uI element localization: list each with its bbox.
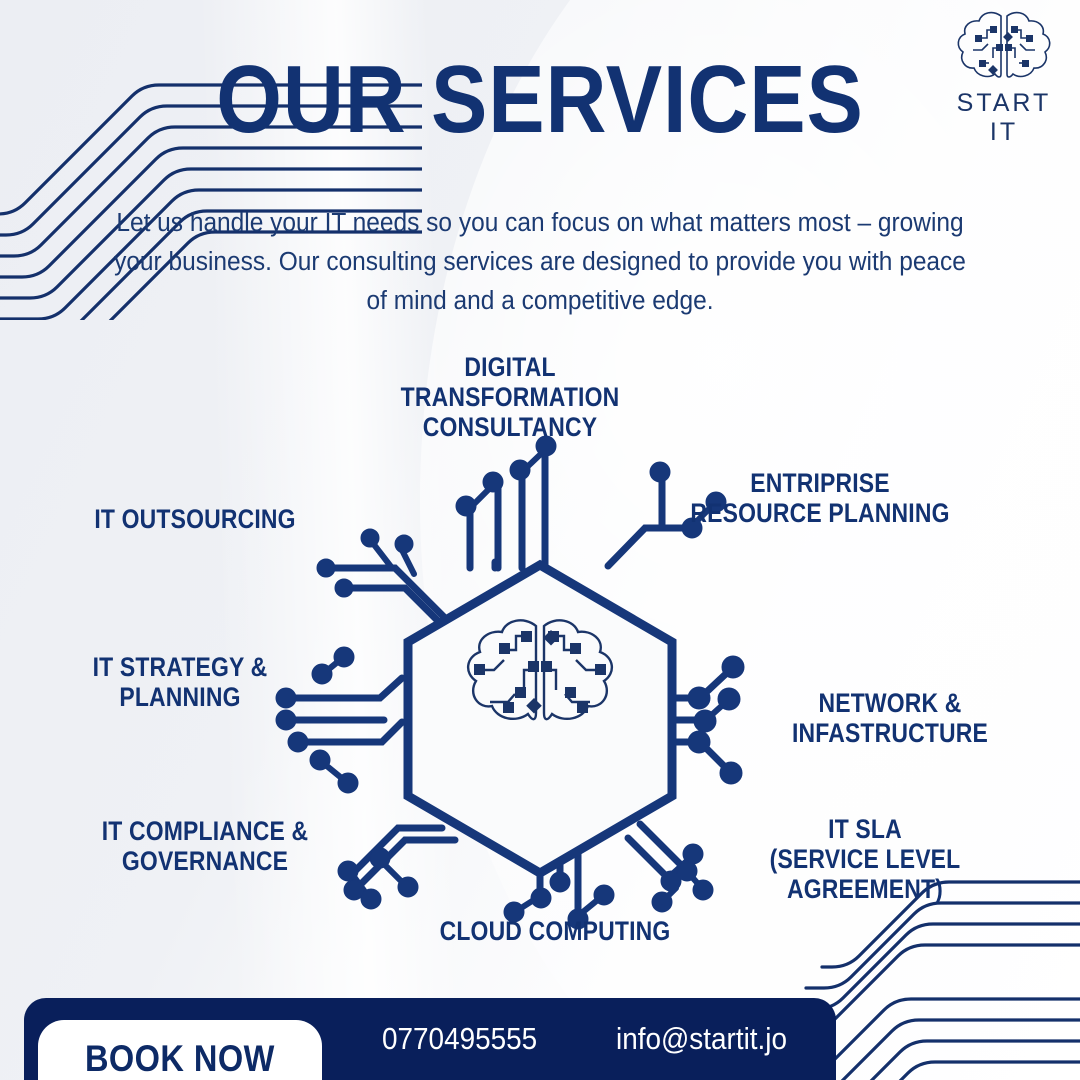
poster-canvas: START IT OUR SERVICES Let us handle your…: [0, 0, 1080, 1080]
footer-bar: BOOK NOW 0770495555 info@startit.jo: [24, 998, 836, 1080]
page-subtitle: Let us handle your IT needs so you can f…: [113, 204, 967, 320]
book-now-button[interactable]: BOOK NOW: [38, 1020, 322, 1080]
email-address[interactable]: info@startit.jo: [616, 1021, 787, 1057]
service-label-it-strategy-planning[interactable]: IT STRATEGY & PLANNING: [44, 652, 316, 712]
service-label-it-sla[interactable]: IT SLA (SERVICE LEVEL AGREEMENT): [725, 814, 1006, 905]
phone-number[interactable]: 0770495555: [382, 1021, 537, 1057]
service-label-network-infrastructure[interactable]: NETWORK & INFASTRUCTURE: [746, 688, 1035, 748]
book-now-label: BOOK NOW: [85, 1038, 275, 1080]
contact-info: 0770495555 info@startit.jo: [354, 998, 826, 1080]
service-label-cloud-computing[interactable]: CLOUD COMPUTING: [398, 916, 713, 946]
service-label-it-compliance-governance[interactable]: IT COMPLIANCE & GOVERNANCE: [65, 816, 346, 876]
service-label-enterprise-resource-planning[interactable]: ENTRIPRISE RESOURCE PLANNING: [667, 468, 973, 528]
service-label-digital-transformation-consultancy[interactable]: DIGITAL TRANSFORMATION CONSULTANCY: [366, 352, 655, 443]
page-title: OUR SERVICES: [65, 52, 1015, 148]
service-label-it-outsourcing[interactable]: IT OUTSOURCING: [55, 504, 336, 534]
hexagon-outline: [408, 565, 672, 873]
